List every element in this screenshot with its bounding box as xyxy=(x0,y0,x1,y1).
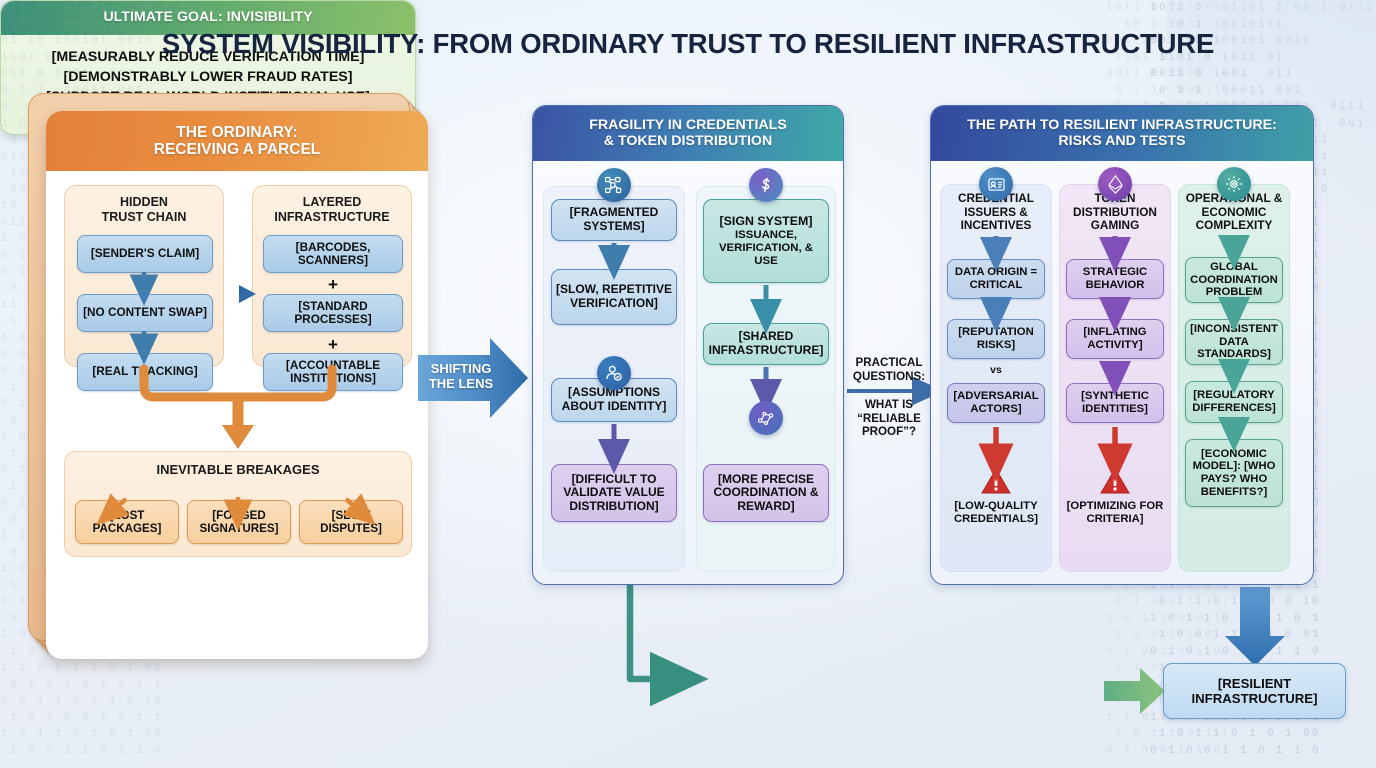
shift-label-line2: THE LENS xyxy=(424,377,498,392)
node-strategic-behavior[interactable]: STRATEGIC BEHAVIOR xyxy=(1066,259,1164,299)
node-economic-model[interactable]: [ECONOMIC MODEL]: [WHO PAYS? WHO BENEFIT… xyxy=(1185,439,1283,507)
right-to-final-arrow xyxy=(1225,587,1285,666)
node-slow-disputes[interactable]: [SLOW DISPUTES] xyxy=(299,500,403,544)
page-title: SYSTEM VISIBILITY: FROM ORDINARY TRUST T… xyxy=(0,28,1376,60)
goal-line-2: [DEMONSTRABLY LOWER FRAUD RATES] xyxy=(11,67,405,87)
id-badge-icon xyxy=(979,167,1013,201)
node-inconsistent-data-standards[interactable]: [INCONSISTENT DATA STANDARDS] xyxy=(1185,319,1283,365)
ordinary-panel: THE ORDINARY: RECEIVING A PARCEL HIDDEN … xyxy=(28,93,418,653)
pq-line3: WHAT IS xyxy=(846,398,932,412)
layered-infrastructure-group: LAYERED INFRASTRUCTURE [BARCODES, SCANNE… xyxy=(252,185,412,367)
ordinary-panel-header: THE ORDINARY: RECEIVING A PARCEL xyxy=(46,111,428,171)
sign-system-sub: ISSUANCE, VERIFICATION, & USE xyxy=(708,229,824,268)
node-accountable-institutions[interactable]: [ACCOUNTABLE INSTITUTIONS] xyxy=(263,353,403,391)
outcome-low-quality-credentials: [LOW-QUALITY CREDENTIALS] xyxy=(943,500,1049,526)
plus-connector-2: + xyxy=(253,336,413,353)
resilient-header-line1: THE PATH TO RESILIENT INFRASTRUCTURE: xyxy=(967,118,1277,134)
gear-globe-icon xyxy=(1217,167,1251,201)
layered-infra-title-line1: LAYERED xyxy=(253,195,411,210)
shift-label-line1: SHIFTING xyxy=(424,362,498,377)
inevitable-breakages-title: INEVITABLE BREAKAGES xyxy=(65,462,411,477)
mid-to-goal-connector xyxy=(630,586,676,679)
practical-questions-bottom: WHAT IS “RELIABLE PROOF”? xyxy=(846,398,932,439)
resilient-header-line2: RISKS AND TESTS xyxy=(967,134,1277,150)
practical-questions-top: PRACTICAL QUESTIONS: xyxy=(846,356,932,383)
node-adversarial-actors[interactable]: [ADVERSARIAL ACTORS] xyxy=(947,383,1045,423)
node-standard-processes[interactable]: [STANDARD PROCESSES] xyxy=(263,294,403,332)
ordinary-header-line2: RECEIVING A PARCEL xyxy=(154,141,321,158)
node-regulatory-differences[interactable]: [REGULATORY DIFFERENCES] xyxy=(1185,381,1283,423)
shifting-the-lens-label: SHIFTING THE LENS xyxy=(424,362,498,392)
pq-line4: “RELIABLE xyxy=(846,412,932,426)
node-sign-system[interactable]: [SIGN SYSTEM] ISSUANCE, VERIFICATION, & … xyxy=(703,199,829,283)
pq-line5: PROOF”? xyxy=(846,425,932,439)
user-verified-icon xyxy=(597,356,631,390)
ordinary-header-line1: THE ORDINARY: xyxy=(154,124,321,141)
plus-connector-1: + xyxy=(253,276,413,293)
node-lost-packages[interactable]: [LOST PACKAGES] xyxy=(75,500,179,544)
node-global-coordination-problem[interactable]: GLOBAL COORDINATION PROBLEM xyxy=(1185,257,1283,303)
resilient-path-panel: THE PATH TO RESILIENT INFRASTRUCTURE: RI… xyxy=(930,105,1314,585)
warning-triangle-icon-2 xyxy=(1100,468,1130,500)
fragility-header-line1: FRAGILITY IN CREDENTIALS xyxy=(589,118,787,134)
hidden-trust-chain-title-line2: TRUST CHAIN xyxy=(65,210,223,225)
node-reputation-risks[interactable]: [REPUTATION RISKS] xyxy=(947,319,1045,359)
fragility-panel: FRAGILITY IN CREDENTIALS & TOKEN DISTRIB… xyxy=(532,105,844,585)
vs-label: vs xyxy=(947,364,1045,376)
node-data-origin-critical[interactable]: DATA ORIGIN = CRITICAL xyxy=(947,259,1045,299)
warning-triangle-icon-1 xyxy=(981,468,1011,500)
hidden-trust-chain-title-line1: HIDDEN xyxy=(65,195,223,210)
node-shared-infrastructure[interactable]: [SHARED INFRASTRUCTURE] xyxy=(703,323,829,365)
resilient-path-header: THE PATH TO RESILIENT INFRASTRUCTURE: RI… xyxy=(931,106,1313,161)
node-slow-repetitive-verification[interactable]: [SLOW, REPETITIVE VERIFICATION] xyxy=(551,269,677,325)
pq-line1: PRACTICAL xyxy=(846,356,932,370)
inevitable-breakages-group: INEVITABLE BREAKAGES [LOST PACKAGES] [FO… xyxy=(64,451,412,557)
node-inflating-activity[interactable]: [INFLATING ACTIVITY] xyxy=(1066,319,1164,359)
resilient-infrastructure-box[interactable]: [RESILIENT INFRASTRUCTURE] xyxy=(1163,663,1346,719)
ethereum-diamond-icon xyxy=(1098,167,1132,201)
outcome-optimizing-for-criteria: [OPTIMIZING FOR CRITERIA] xyxy=(1062,500,1168,526)
node-barcodes-scanners[interactable]: [BARCODES, SCANNERS] xyxy=(263,235,403,273)
layered-infra-title-line2: INFRASTRUCTURE xyxy=(253,210,411,225)
node-no-content-swap[interactable]: [NO CONTENT SWAP] xyxy=(77,294,213,332)
fragility-header-line2: & TOKEN DISTRIBUTION xyxy=(589,134,787,150)
network-nodes-icon xyxy=(597,168,631,202)
dollar-sign-icon xyxy=(749,168,783,202)
sign-system-title: [SIGN SYSTEM] xyxy=(720,214,813,228)
network-reward-icon xyxy=(749,401,783,435)
goal-to-final-arrow xyxy=(1104,668,1165,714)
node-senders-claim[interactable]: [SENDER'S CLAIM] xyxy=(77,235,213,273)
node-fragmented-systems[interactable]: [FRAGMENTED SYSTEMS] xyxy=(551,199,677,241)
node-synthetic-identities[interactable]: [SYNTHETIC IDENTITIES] xyxy=(1066,383,1164,423)
ordinary-card-front: THE ORDINARY: RECEIVING A PARCEL HIDDEN … xyxy=(46,111,428,659)
operational-complexity-column xyxy=(1178,184,1290,572)
hidden-trust-chain-group: HIDDEN TRUST CHAIN [SENDER'S CLAIM] [NO … xyxy=(64,185,224,367)
node-difficult-validate-value[interactable]: [DIFFICULT TO VALIDATE VALUE DISTRIBUTIO… xyxy=(551,464,677,522)
node-more-precise-coordination[interactable]: [MORE PRECISE COORDINATION & REWARD] xyxy=(703,464,829,522)
node-forged-signatures[interactable]: [FORGED SIGNATURES] xyxy=(187,500,291,544)
fragility-panel-header: FRAGILITY IN CREDENTIALS & TOKEN DISTRIB… xyxy=(533,106,843,161)
node-real-tracking[interactable]: [REAL TRACKING] xyxy=(77,353,213,391)
pq-line2: QUESTIONS: xyxy=(846,370,932,384)
